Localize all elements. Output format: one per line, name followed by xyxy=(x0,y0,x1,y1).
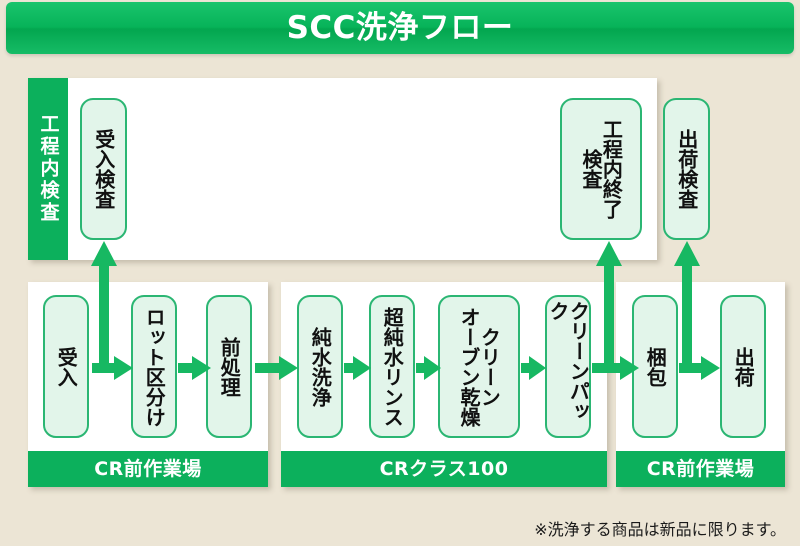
arrow-clean-oven-drying-to-clean-pack xyxy=(521,355,547,381)
arrow-up-to-incoming-inspection xyxy=(90,240,118,368)
box-lot-sorting-label: ロット区分け xyxy=(144,297,164,436)
inspection-panel: 工程内検査 受入検査 工程内終了 検査 xyxy=(28,78,657,260)
box-shipping-inspection[interactable]: 出荷検査 xyxy=(663,98,710,240)
box-shipping-label: 出荷 xyxy=(733,297,753,436)
process-group-post-cleanroom-footer-label: CR前作業場 xyxy=(647,460,755,479)
arrow-up-to-process-completion-inspection xyxy=(595,240,623,368)
process-group-post-cleanroom-footer: CR前作業場 xyxy=(616,451,785,487)
box-pretreatment-label: 前処理 xyxy=(219,297,239,436)
process-group-cleanroom-class-100-footer-label: CRクラス100 xyxy=(380,460,509,479)
page-title-banner: SCC洗浄フロー xyxy=(6,2,794,54)
box-clean-oven-drying[interactable]: クリーン オーブン乾燥 xyxy=(438,295,520,438)
box-shipping-inspection-label: 出荷検査 xyxy=(676,100,696,238)
inspection-sidebar: 工程内検査 xyxy=(28,78,68,260)
box-shipping[interactable]: 出荷 xyxy=(720,295,766,438)
process-group-cleanroom-class-100: 純水洗浄 超純水リンス クリーン オーブン乾燥 クリーンパック CRクラス100 xyxy=(281,282,607,487)
box-incoming-inspection-label: 受入検査 xyxy=(93,100,113,238)
box-receiving-label: 受入 xyxy=(56,297,76,436)
box-pure-water-wash-label: 純水洗浄 xyxy=(310,297,330,436)
process-group-pre-cleanroom: 受入 ロット区分け 前処理 CR前作業場 xyxy=(28,282,268,487)
box-clean-pack[interactable]: クリーンパック xyxy=(545,295,591,438)
page-title: SCC洗浄フロー xyxy=(287,13,514,44)
box-pretreatment[interactable]: 前処理 xyxy=(206,295,252,438)
box-receiving[interactable]: 受入 xyxy=(43,295,89,438)
process-group-cleanroom-class-100-footer: CRクラス100 xyxy=(281,451,607,487)
box-ultrapure-water-rinse-label: 超純水リンス xyxy=(382,297,402,436)
box-pure-water-wash[interactable]: 純水洗浄 xyxy=(297,295,343,438)
arrow-lot-sorting-to-pretreatment xyxy=(178,355,212,381)
arrow-pretreatment-to-pure-water-wash xyxy=(255,355,299,381)
process-group-pre-cleanroom-footer: CR前作業場 xyxy=(28,451,268,487)
box-process-completion-inspection-col-2: 検査 xyxy=(581,100,601,238)
box-clean-oven-drying-col-1: クリーン xyxy=(479,297,499,436)
box-incoming-inspection[interactable]: 受入検査 xyxy=(80,98,127,240)
footnote: ※洗浄する商品は新品に限ります。 xyxy=(534,522,786,538)
arrow-up-to-shipping-inspection xyxy=(673,240,701,368)
process-group-pre-cleanroom-footer-label: CR前作業場 xyxy=(94,460,202,479)
arrow-pure-water-wash-to-rinse xyxy=(344,355,372,381)
box-clean-pack-label: クリーンパック xyxy=(548,297,589,436)
box-lot-sorting[interactable]: ロット区分け xyxy=(131,295,177,438)
box-ultrapure-water-rinse[interactable]: 超純水リンス xyxy=(369,295,415,438)
box-packaging-label: 梱包 xyxy=(645,297,665,436)
box-clean-oven-drying-col-2: オーブン乾燥 xyxy=(459,297,479,436)
arrow-rinse-to-clean-oven-drying xyxy=(416,355,442,381)
box-process-completion-inspection[interactable]: 工程内終了 検査 xyxy=(560,98,642,240)
inspection-sidebar-label: 工程内検査 xyxy=(39,114,58,224)
box-process-completion-inspection-col-1: 工程内終了 xyxy=(601,100,621,238)
